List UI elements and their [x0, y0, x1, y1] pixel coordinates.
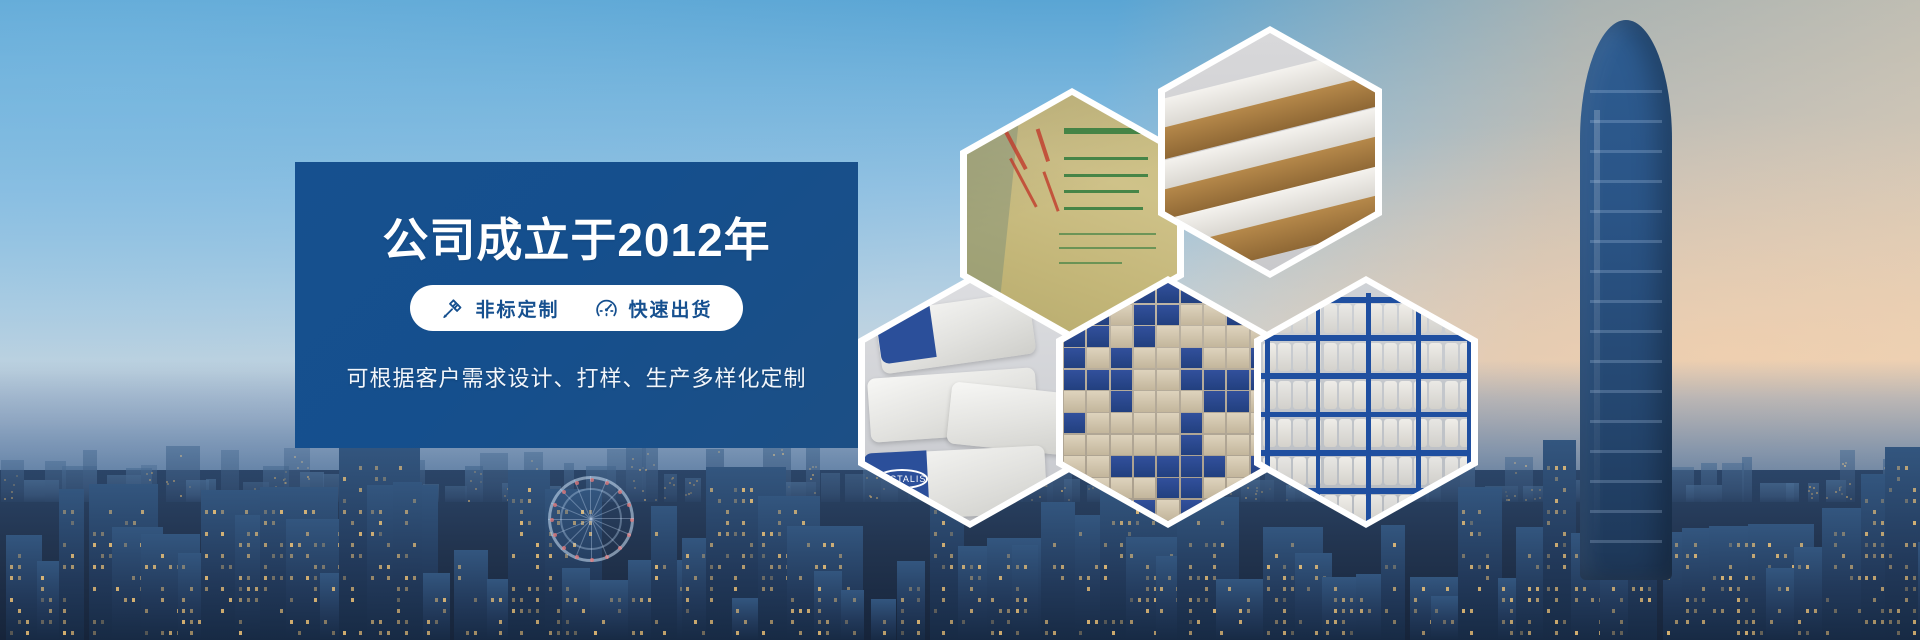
wheel-pod [562, 546, 566, 550]
sack [1278, 343, 1291, 372]
building [1885, 447, 1920, 640]
building [1, 460, 24, 502]
sack [1384, 495, 1397, 521]
sack [1293, 419, 1306, 448]
rack-column [1316, 293, 1321, 521]
folded-sheets-art [1165, 33, 1375, 271]
pallet-row [1063, 348, 1273, 368]
sack [1339, 304, 1352, 333]
wheel-spoke [591, 519, 592, 562]
tower-band [1590, 120, 1662, 123]
building [806, 447, 819, 502]
tower-band [1590, 420, 1662, 423]
sack [1399, 304, 1412, 333]
sack [1369, 419, 1382, 448]
sack [1369, 343, 1382, 372]
feature-badge-label: 快速出货 [629, 295, 713, 322]
page-subtitle: 可根据客户需求设计、打样、生产多样化定制 [346, 361, 806, 393]
sack [1414, 495, 1427, 521]
sack [1445, 381, 1458, 410]
building [821, 473, 840, 502]
sack [1278, 304, 1291, 333]
sack [1293, 343, 1306, 372]
sack [1399, 495, 1412, 521]
hexagon-tile[interactable] [1254, 276, 1478, 528]
tower-band [1590, 150, 1662, 153]
sack [1339, 495, 1352, 521]
tower-band [1590, 180, 1662, 183]
sack [1354, 419, 1367, 448]
building [845, 474, 865, 502]
building [841, 590, 864, 640]
sack [1293, 381, 1306, 410]
building [1742, 457, 1752, 502]
building [445, 486, 467, 502]
sack [1384, 304, 1397, 333]
building [423, 573, 450, 640]
building [59, 489, 85, 640]
sack [1384, 457, 1397, 486]
tower-band [1590, 270, 1662, 273]
building [1808, 483, 1819, 502]
sack [1293, 495, 1306, 521]
sack [1429, 457, 1442, 486]
sack [1384, 419, 1397, 448]
sack [1369, 457, 1382, 486]
hex-folded-sheets [1165, 33, 1375, 271]
sack [1278, 419, 1291, 448]
building [814, 571, 842, 640]
sack [1445, 495, 1458, 521]
speed-gauge-icon [594, 296, 619, 321]
sack [1324, 495, 1337, 521]
building [1381, 525, 1405, 640]
wheel-pod [562, 490, 566, 494]
sack [1324, 457, 1337, 486]
hex-lactalis-bags: LACTALIS [865, 283, 1075, 521]
hexagon-photo-cluster: LACTALIS [960, 88, 1580, 518]
tower-band [1590, 240, 1662, 243]
sack [1263, 304, 1276, 333]
pallet-row [1063, 478, 1273, 498]
sack [1354, 304, 1367, 333]
sack [1278, 381, 1291, 410]
sack [1384, 343, 1397, 372]
landmark-tower [1580, 20, 1672, 580]
sack [1354, 343, 1367, 372]
sack [1354, 381, 1367, 410]
feature-badge-group: 非标定制 快速出货 [410, 285, 742, 331]
sack [1399, 457, 1412, 486]
ferris-wheel-icon [548, 476, 634, 562]
sack [1339, 381, 1352, 410]
tower-band [1590, 390, 1662, 393]
building [642, 442, 658, 502]
hero-banner: LACTALIS 公司成立于2012年 [0, 0, 1920, 640]
building [685, 478, 701, 502]
sack [1369, 495, 1382, 521]
wheel-spoke [591, 518, 622, 549]
sack [1278, 457, 1291, 486]
sack [1339, 457, 1352, 486]
tower-band [1590, 450, 1662, 453]
hex-warehouse-rack [1261, 283, 1471, 521]
building [562, 568, 590, 640]
building [454, 550, 488, 640]
sack [1445, 457, 1458, 486]
rack-column [1366, 293, 1371, 521]
sack [1429, 304, 1442, 333]
building [897, 561, 925, 640]
sack [1308, 495, 1321, 521]
pallet-row [1063, 435, 1273, 455]
sack [1324, 381, 1337, 410]
wheel-spoke [548, 519, 591, 520]
sack [1429, 495, 1442, 521]
warehouse-rack-art [1261, 283, 1471, 521]
wheel-spoke [561, 519, 592, 550]
building [871, 599, 897, 640]
tower-band [1590, 540, 1662, 543]
sack [1324, 419, 1337, 448]
sack [1354, 495, 1367, 521]
sack [1460, 495, 1471, 521]
hex-pallet-stack [1063, 283, 1273, 521]
building [1840, 450, 1855, 502]
sack [1429, 343, 1442, 372]
building [393, 482, 421, 640]
building [1516, 527, 1546, 640]
tower-band [1590, 480, 1662, 483]
sack [1445, 419, 1458, 448]
sack [1324, 304, 1337, 333]
wheel-pod [575, 481, 579, 485]
building [1786, 483, 1799, 502]
tower-band [1590, 330, 1662, 333]
sack [1354, 457, 1367, 486]
wheel-spoke [590, 476, 591, 519]
sack [1399, 381, 1412, 410]
rack-column [1416, 293, 1421, 521]
sack [1293, 304, 1306, 333]
feature-badge-custom[interactable]: 非标定制 [440, 295, 559, 322]
sack [1369, 381, 1382, 410]
sack [1460, 304, 1471, 333]
wheel-pod [575, 555, 579, 559]
sack [1339, 419, 1352, 448]
tower-band [1590, 90, 1662, 93]
rack-column [1467, 293, 1471, 521]
sack [1445, 304, 1458, 333]
pallet-row [1063, 500, 1273, 520]
sack [1399, 343, 1412, 372]
building [1041, 502, 1075, 640]
pallet-stack-art [1063, 283, 1273, 521]
sack [1324, 343, 1337, 372]
sack [1293, 457, 1306, 486]
building [664, 474, 677, 502]
sack [1384, 381, 1397, 410]
sack [1339, 343, 1352, 372]
tower-band [1590, 510, 1662, 513]
building [1701, 463, 1716, 502]
hero-text-panel: 公司成立于2012年 非标定制 [295, 162, 858, 448]
wheel-pod [550, 518, 554, 522]
page-title: 公司成立于2012年 [382, 217, 770, 263]
pallet-row [1063, 391, 1273, 411]
wheel-pod [553, 533, 557, 537]
tower-band [1590, 360, 1662, 363]
wheel-spoke [591, 518, 634, 519]
wheel-pod [553, 503, 557, 507]
sack [1429, 419, 1442, 448]
pallet-row [1063, 413, 1273, 433]
sack [1429, 381, 1442, 410]
sack [1399, 419, 1412, 448]
wheel-pod [590, 558, 594, 562]
sack [1278, 495, 1291, 521]
pallet-row [1063, 456, 1273, 476]
pallet-row [1063, 326, 1273, 346]
custom-pen-icon [440, 296, 465, 321]
rack-column [1265, 293, 1270, 521]
building [508, 470, 550, 640]
building [651, 506, 677, 640]
feature-badge-speed[interactable]: 快速出货 [594, 295, 713, 322]
tower-band [1590, 300, 1662, 303]
sack [1369, 304, 1382, 333]
sack [1445, 343, 1458, 372]
sack [1263, 495, 1276, 521]
building [1012, 545, 1038, 640]
woven-bags-art: LACTALIS [865, 283, 1075, 521]
feature-badge-label: 非标定制 [475, 295, 559, 322]
pallet-row [1063, 370, 1273, 390]
tower-band [1590, 210, 1662, 213]
